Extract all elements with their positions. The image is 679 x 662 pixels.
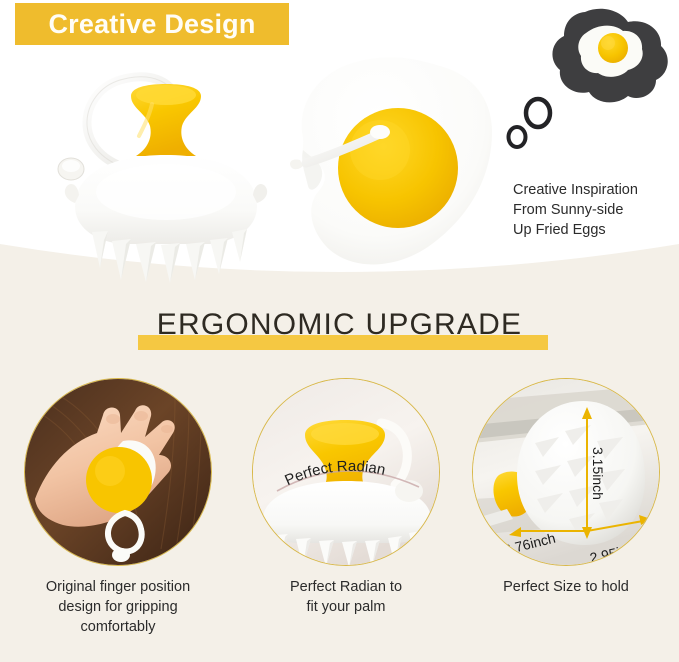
feature-caption: Perfect Radian to fit your palm — [252, 577, 440, 617]
feature-caption: Original finger position design for grip… — [24, 577, 212, 637]
dimension-height-label: 3.15inch — [590, 447, 606, 500]
creative-design-banner: Creative Design — [15, 3, 289, 45]
section-heading: ERGONOMIC UPGRADE — [0, 305, 679, 355]
section-heading-title: ERGONOMIC UPGRADE — [0, 305, 679, 345]
feature-caption: Perfect Size to hold — [472, 577, 660, 597]
feature-image-perfect-radian: Perfect Radian — [252, 378, 440, 566]
creative-design-label: Creative Design — [48, 11, 255, 38]
feature-image-hand-gripping-massager — [24, 378, 212, 566]
panel-curve-divider — [0, 0, 679, 300]
infographic-page: Creative Design — [0, 0, 679, 662]
perfect-radian-illustration: Perfect Radian — [253, 379, 440, 566]
dimensions-illustration: 3.15inch 2.76inch 2.95inch — [473, 379, 660, 566]
hand-gripping-illustration — [25, 379, 212, 566]
feature-card-original-finger-position: Original finger position design for grip… — [24, 378, 212, 637]
feature-card-perfect-size: 3.15inch 2.76inch 2.95inch Perfect Size … — [472, 378, 660, 597]
feature-image-dimensions: 3.15inch 2.76inch 2.95inch — [472, 378, 660, 566]
feature-card-perfect-radian: Perfect Radian Perfect Radian to fit you… — [252, 378, 440, 617]
creative-inspiration-caption: Creative Inspiration From Sunny-side Up … — [513, 180, 678, 240]
